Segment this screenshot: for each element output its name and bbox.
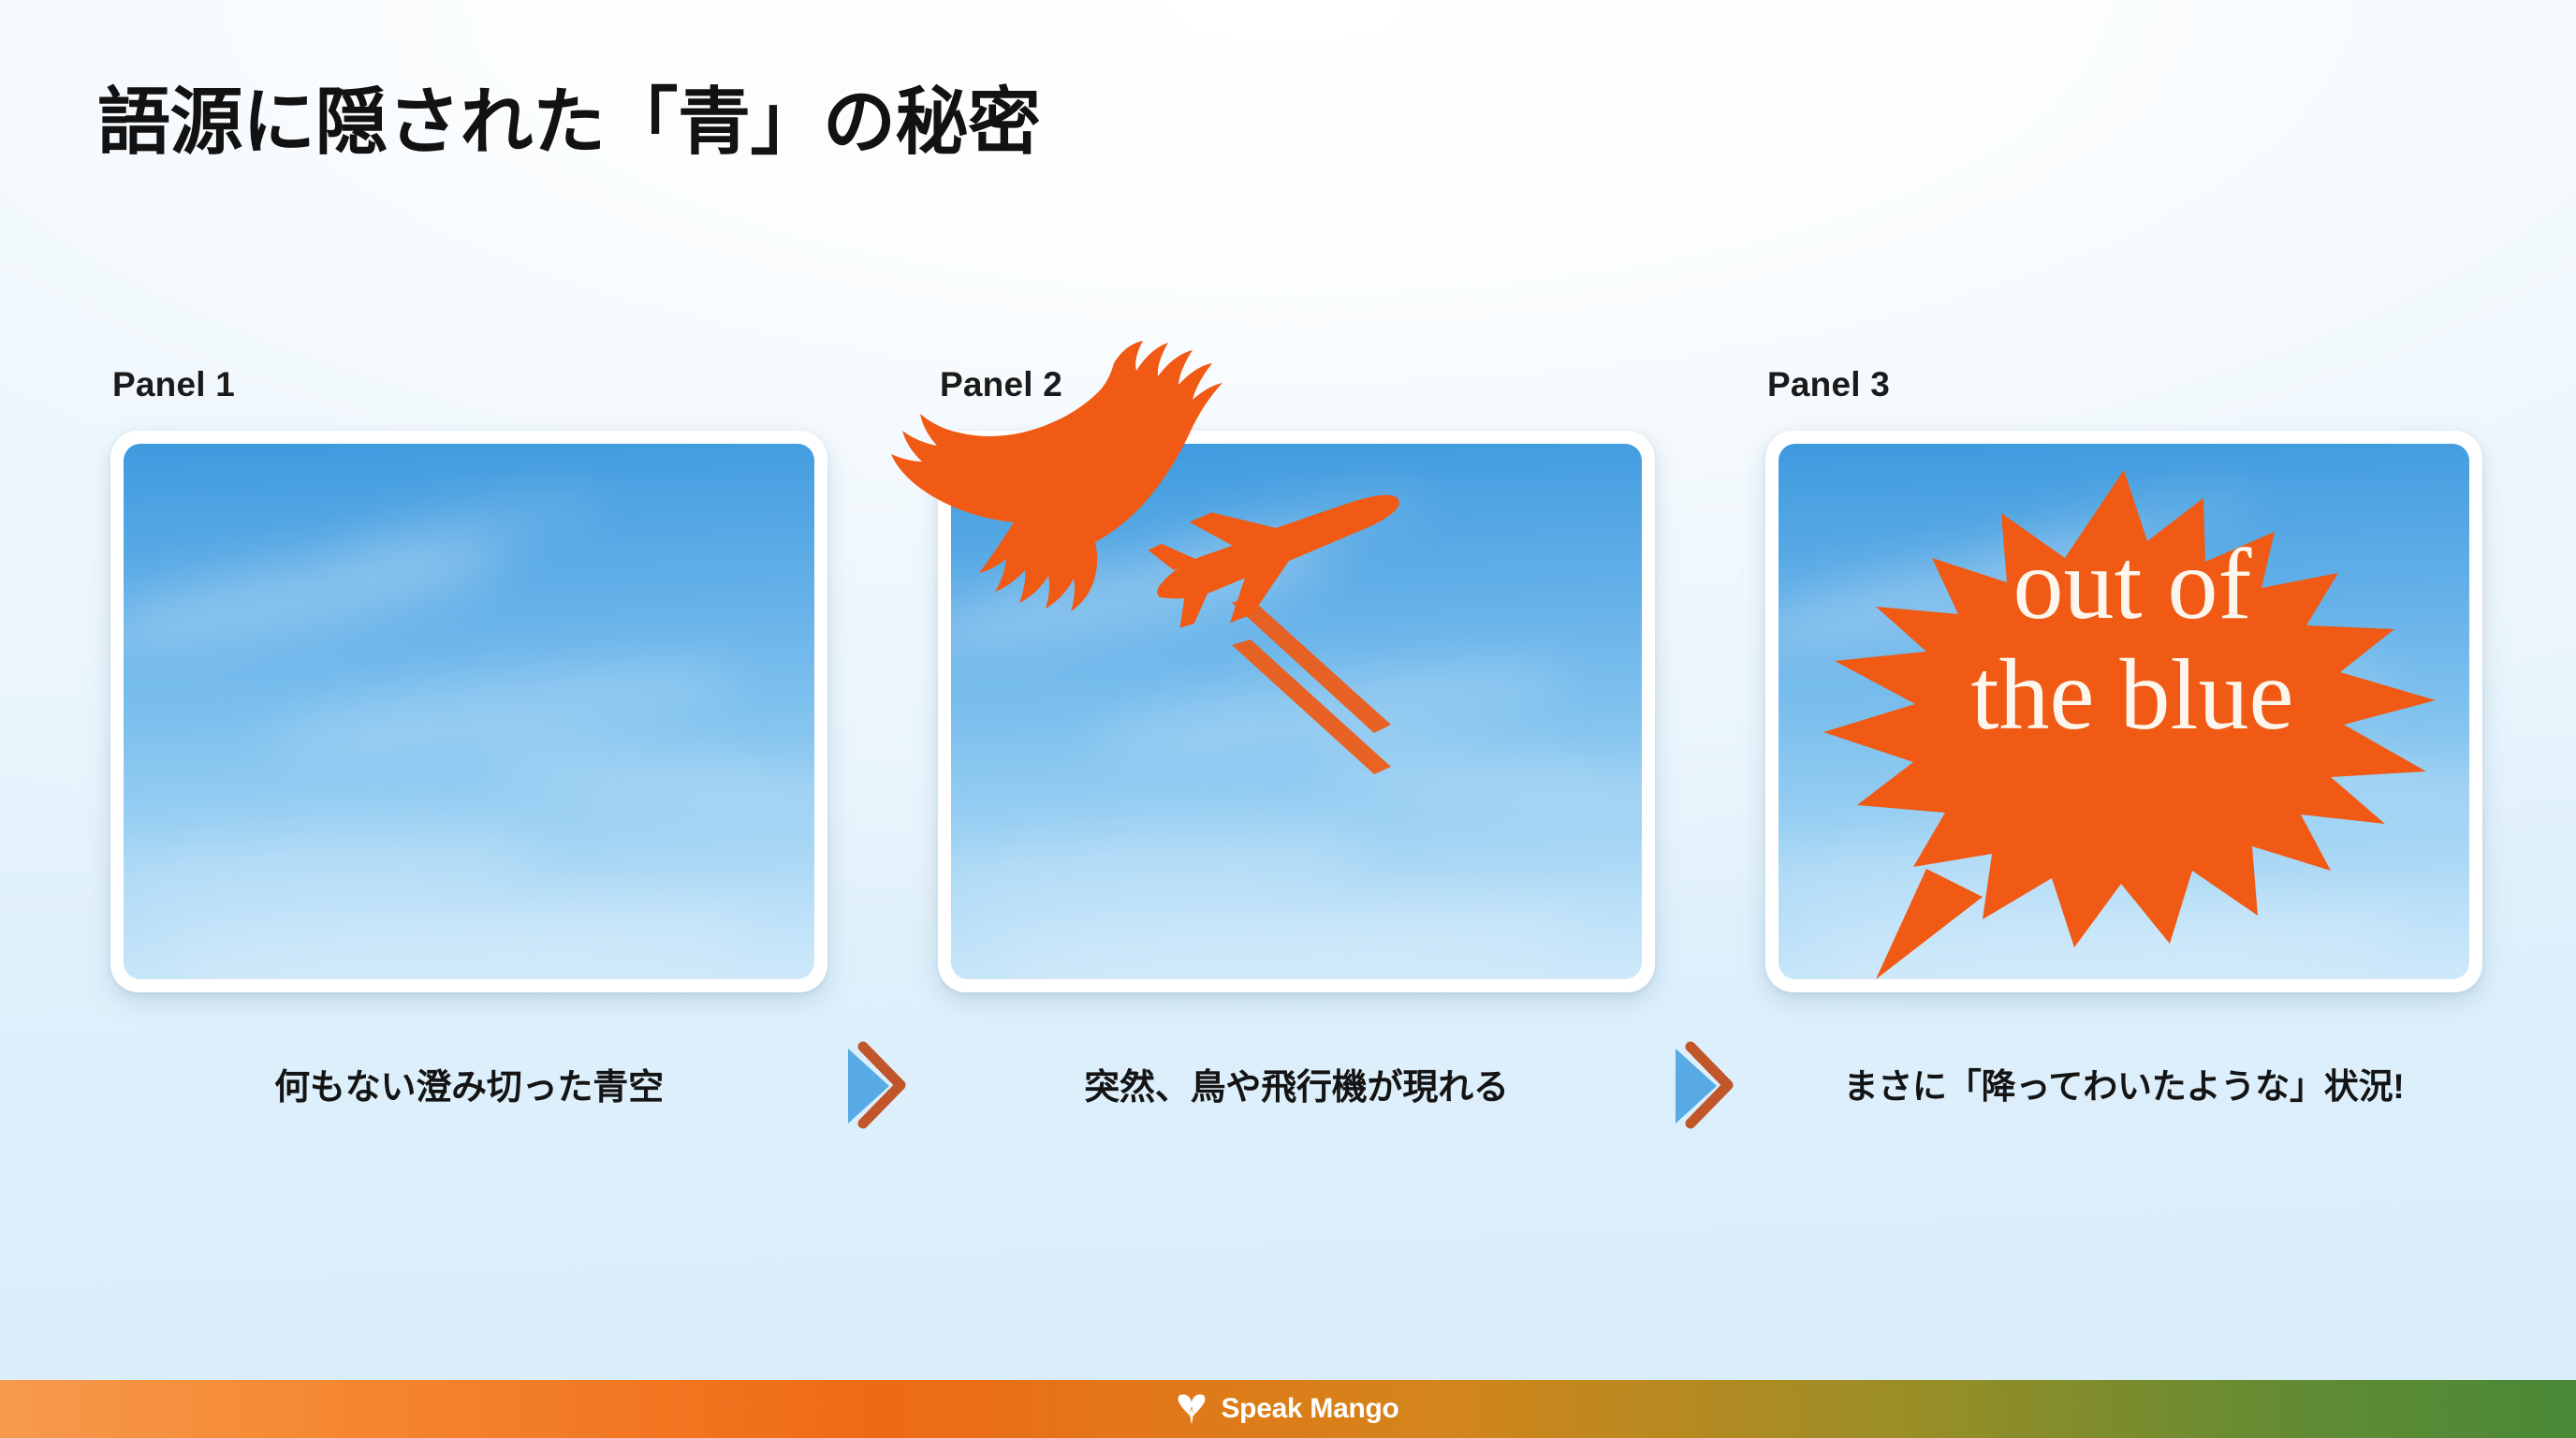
arrow-panel2-to-panel3 <box>1670 1034 1754 1137</box>
panel-2[interactable]: Panel 2 <box>938 365 1655 1109</box>
slide-root: 語源に隠された「青」の秘密 Panel 1 何もない澄み切った青空 Panel … <box>0 0 2576 1438</box>
panel-1-label: Panel 1 <box>110 365 827 406</box>
panel-3-caption: まさに「降ってわいたような」状況! <box>1765 1058 2482 1108</box>
page-title: 語源に隠された「青」の秘密 <box>97 81 1041 165</box>
mango-m-icon <box>1177 1393 1207 1425</box>
panel-3[interactable]: Panel 3 out of t <box>1765 365 2482 1108</box>
footer-brand-label: Speak Mango <box>1221 1393 1398 1425</box>
footer-bar: Speak Mango <box>0 1380 2576 1438</box>
panel-2-frame <box>938 431 1655 992</box>
panel-1-caption: 何もない澄み切った青空 <box>110 1058 827 1109</box>
sky-image-3 <box>1778 444 2469 979</box>
sky-image-1 <box>124 444 814 979</box>
panel-3-frame: out of the blue <box>1765 431 2482 992</box>
panel-3-label: Panel 3 <box>1765 365 2482 406</box>
sky-image-2 <box>951 444 1642 979</box>
arrow-panel1-to-panel2 <box>842 1034 927 1137</box>
contrail-streaks-icon <box>951 444 1642 979</box>
panel-1-frame <box>110 431 827 992</box>
panels-row: Panel 1 何もない澄み切った青空 Panel 2 <box>0 365 2576 1208</box>
panel-2-caption: 突然、鳥や飛行機が現れる <box>938 1058 1655 1109</box>
panel-2-label: Panel 2 <box>938 365 1655 406</box>
panel-1[interactable]: Panel 1 何もない澄み切った青空 <box>110 365 827 1109</box>
